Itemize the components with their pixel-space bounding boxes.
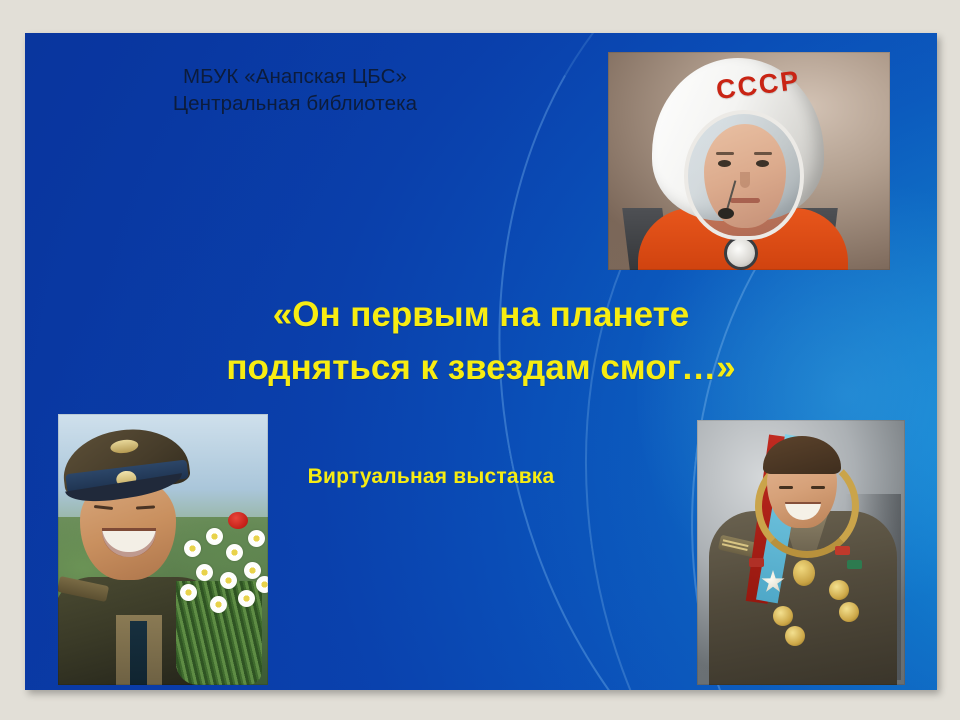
photo-gagarin-medals [697,420,905,685]
face-mouth [730,198,760,203]
medals-smile [785,502,821,520]
face-eye-right [756,160,769,167]
face-brow-left [716,152,734,155]
order-medal [829,580,849,600]
bouquet-daisy [206,528,223,545]
uniform-tie [130,621,147,685]
bouquet-daisy [196,564,213,581]
helmet-microphone [718,208,734,219]
ribbon-bar [835,546,850,555]
face-eye-left [718,160,731,167]
ribbon-bar [749,558,764,567]
cap-wing-badge [110,438,139,454]
bouquet-daisy [210,596,227,613]
slide-root: МБУК «Анапская ЦБС» Центральная библиоте… [0,0,960,720]
bouquet-daisy [184,540,201,557]
photo-gagarin-helmet: СССР [608,52,890,270]
ribbon-bar [847,560,862,569]
organization-line-2: Центральная библиотека [85,90,505,117]
order-medal [773,606,793,626]
bouquet-rose [228,512,248,529]
photo-gagarin-flowers [58,414,268,685]
order-medal [785,626,805,646]
bouquet-daisy [256,576,268,593]
helmet-face [704,124,786,228]
bouquet-daisy [180,584,197,601]
bouquet-daisy [226,544,243,561]
daisy-bouquet [166,510,268,685]
organization-line-1: МБУК «Анапская ЦБС» [85,63,505,90]
slide-title-line-2: подняться к звездам смог…» [81,341,881,394]
face-nose [740,172,750,188]
medals-eye-left [779,486,793,489]
face-brow-right [754,152,772,155]
flowers-smile [102,528,156,557]
flowers-eye-left [94,505,113,510]
uniform-epaulette [58,576,109,602]
order-medal [839,602,859,622]
slide-title-line-1: «Он первым на планете [81,288,881,341]
order-pendant [793,560,815,586]
slide-subtitle: Виртуальная выставка [221,465,641,489]
bouquet-daisy [238,590,255,607]
flowers-eye-right [136,505,155,509]
epaulette-stripes [723,539,749,547]
organization-header: МБУК «Анапская ЦБС» Центральная библиоте… [85,63,505,118]
bouquet-daisy [244,562,261,579]
presentation-slide[interactable]: МБУК «Анапская ЦБС» Центральная библиоте… [25,33,937,690]
bouquet-daisy [220,572,237,589]
suit-dial [724,236,758,270]
bouquet-daisy [248,530,265,547]
medals-eye-right [811,486,825,489]
slide-title: «Он первым на планете подняться к звезда… [81,288,881,394]
